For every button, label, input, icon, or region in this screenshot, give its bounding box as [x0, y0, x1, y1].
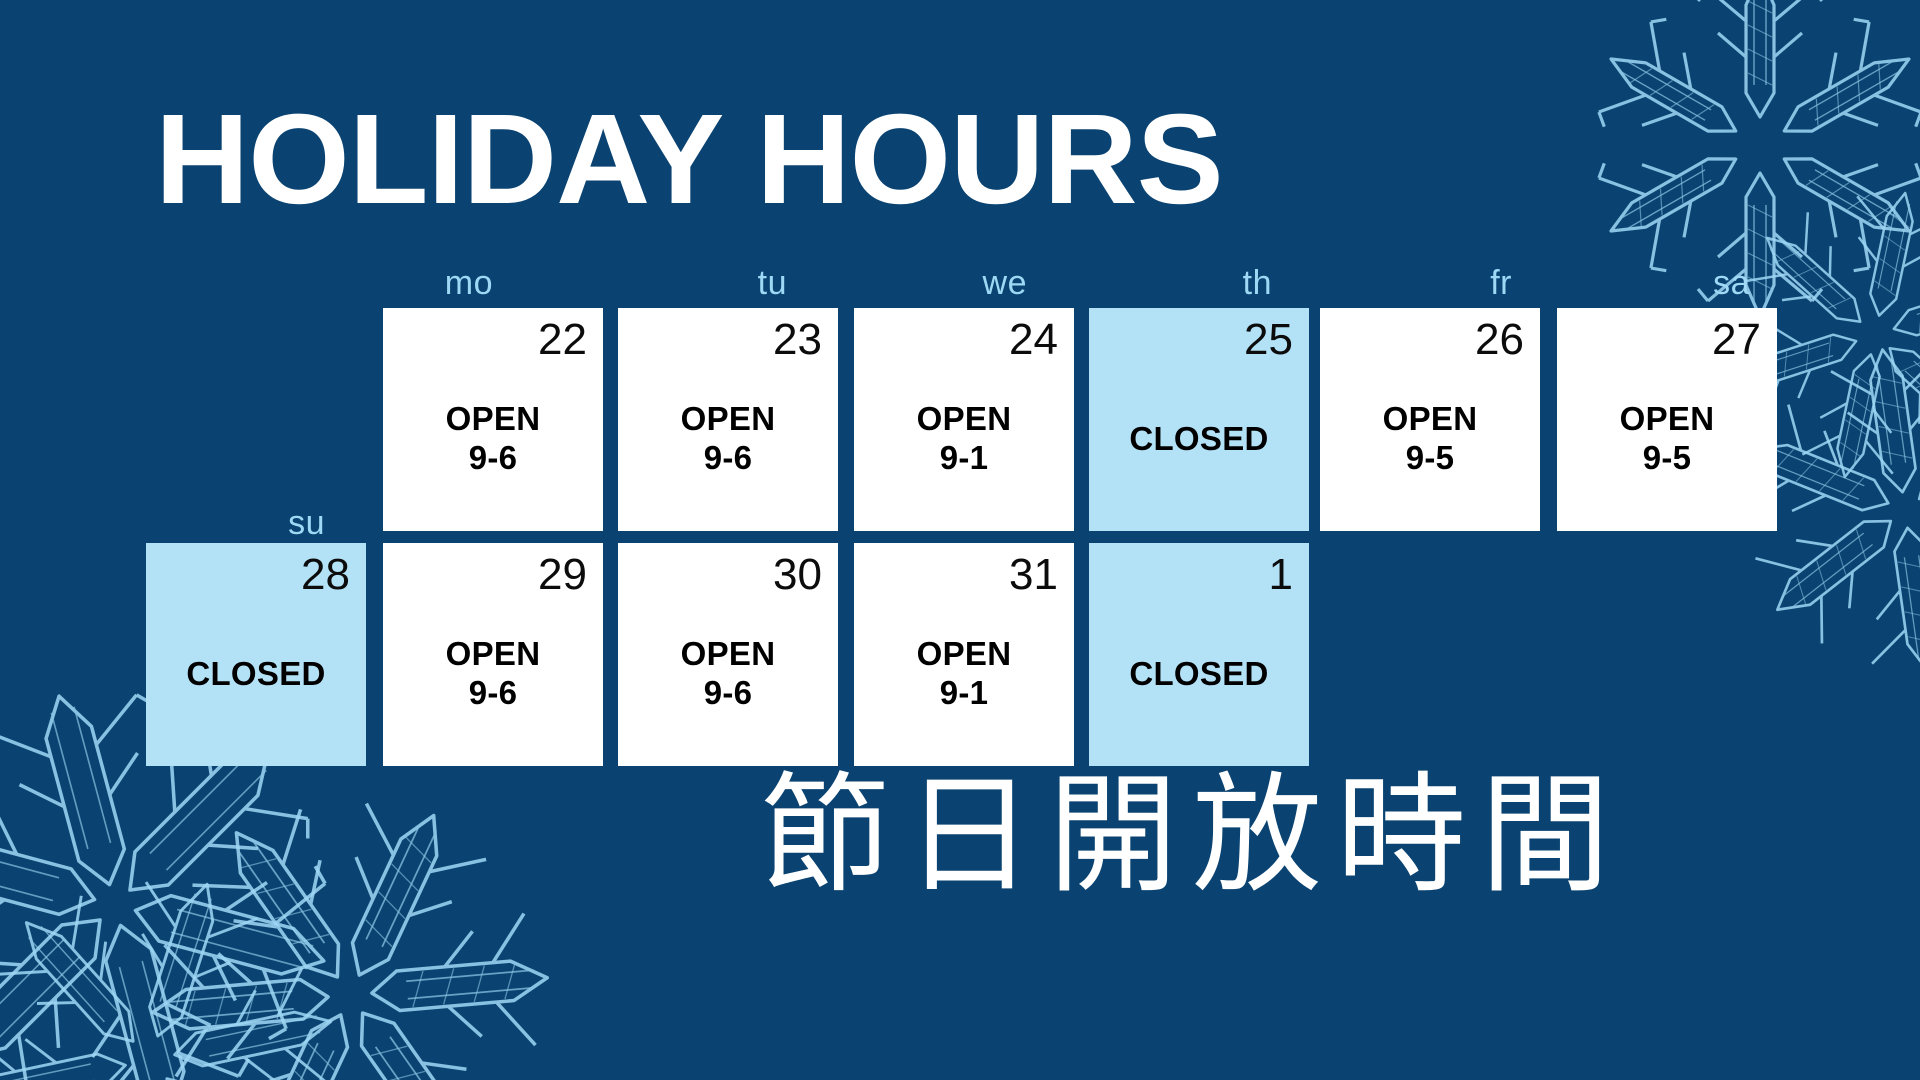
day-status-block: OPEN9-6	[383, 400, 603, 478]
weekday-label-th: th	[1192, 266, 1272, 300]
day-status-block: OPEN9-5	[1557, 400, 1777, 478]
status-badge: OPEN	[383, 400, 603, 439]
weekday-label-sa: sa	[1670, 266, 1750, 300]
day-number: 24	[870, 318, 1058, 362]
status-badge: OPEN	[1557, 400, 1777, 439]
hours-text: 9-5	[1320, 439, 1540, 478]
day-number: 27	[1573, 318, 1761, 362]
status-badge: OPEN	[1320, 400, 1540, 439]
hours-text: 9-5	[1557, 439, 1777, 478]
day-number: 22	[399, 318, 587, 362]
day-status-block: OPEN9-1	[854, 400, 1074, 478]
hours-text: 9-1	[854, 674, 1074, 713]
calendar-day-cell[interactable]: 26OPEN9-5	[1320, 308, 1540, 531]
day-number: 23	[634, 318, 822, 362]
holiday-hours-poster: HOLIDAY HOURS motuwethfrsasu22OPEN9-623O…	[0, 0, 1920, 1080]
weekday-label-fr: fr	[1432, 266, 1512, 300]
status-badge: OPEN	[618, 400, 838, 439]
status-badge: OPEN	[854, 635, 1074, 674]
day-number: 26	[1336, 318, 1524, 362]
calendar-day-cell[interactable]: 31OPEN9-1	[854, 543, 1074, 766]
hours-text: 9-6	[383, 674, 603, 713]
day-number: 1	[1105, 553, 1293, 597]
hours-text: 9-6	[618, 439, 838, 478]
hours-text: 9-1	[854, 439, 1074, 478]
calendar-day-cell[interactable]: 30OPEN9-6	[618, 543, 838, 766]
subtitle-chinese: 節日開放時間	[760, 770, 1624, 900]
calendar-day-cell[interactable]: 1CLOSED	[1089, 543, 1309, 766]
day-number: 25	[1105, 318, 1293, 362]
day-number: 29	[399, 553, 587, 597]
calendar-day-cell[interactable]: 22OPEN9-6	[383, 308, 603, 531]
holiday-calendar: motuwethfrsasu22OPEN9-623OPEN9-624OPEN9-…	[0, 0, 1920, 1080]
day-status-block: OPEN9-6	[618, 400, 838, 478]
day-status-block: OPEN9-6	[618, 635, 838, 713]
weekday-label-we: we	[947, 266, 1027, 300]
day-status-block: CLOSED	[1089, 655, 1309, 694]
weekday-label-su: su	[245, 506, 325, 540]
status-badge: OPEN	[854, 400, 1074, 439]
calendar-day-cell[interactable]: 29OPEN9-6	[383, 543, 603, 766]
day-status-block: OPEN9-5	[1320, 400, 1540, 478]
day-number: 30	[634, 553, 822, 597]
day-status-block: CLOSED	[146, 655, 366, 694]
calendar-day-cell[interactable]: 23OPEN9-6	[618, 308, 838, 531]
day-number: 28	[162, 553, 350, 597]
day-status-block: OPEN9-1	[854, 635, 1074, 713]
weekday-label-tu: tu	[707, 266, 787, 300]
day-status-block: OPEN9-6	[383, 635, 603, 713]
hours-text: 9-6	[383, 439, 603, 478]
day-number: 31	[870, 553, 1058, 597]
calendar-day-cell[interactable]: 25CLOSED	[1089, 308, 1309, 531]
calendar-day-cell[interactable]: 24OPEN9-1	[854, 308, 1074, 531]
status-badge: OPEN	[618, 635, 838, 674]
hours-text: 9-6	[618, 674, 838, 713]
status-badge: CLOSED	[146, 655, 366, 694]
status-badge: CLOSED	[1089, 655, 1309, 694]
calendar-day-cell[interactable]: 27OPEN9-5	[1557, 308, 1777, 531]
status-badge: OPEN	[383, 635, 603, 674]
day-status-block: CLOSED	[1089, 420, 1309, 459]
weekday-label-mo: mo	[413, 266, 493, 300]
status-badge: CLOSED	[1089, 420, 1309, 459]
calendar-day-cell[interactable]: 28CLOSED	[146, 543, 366, 766]
